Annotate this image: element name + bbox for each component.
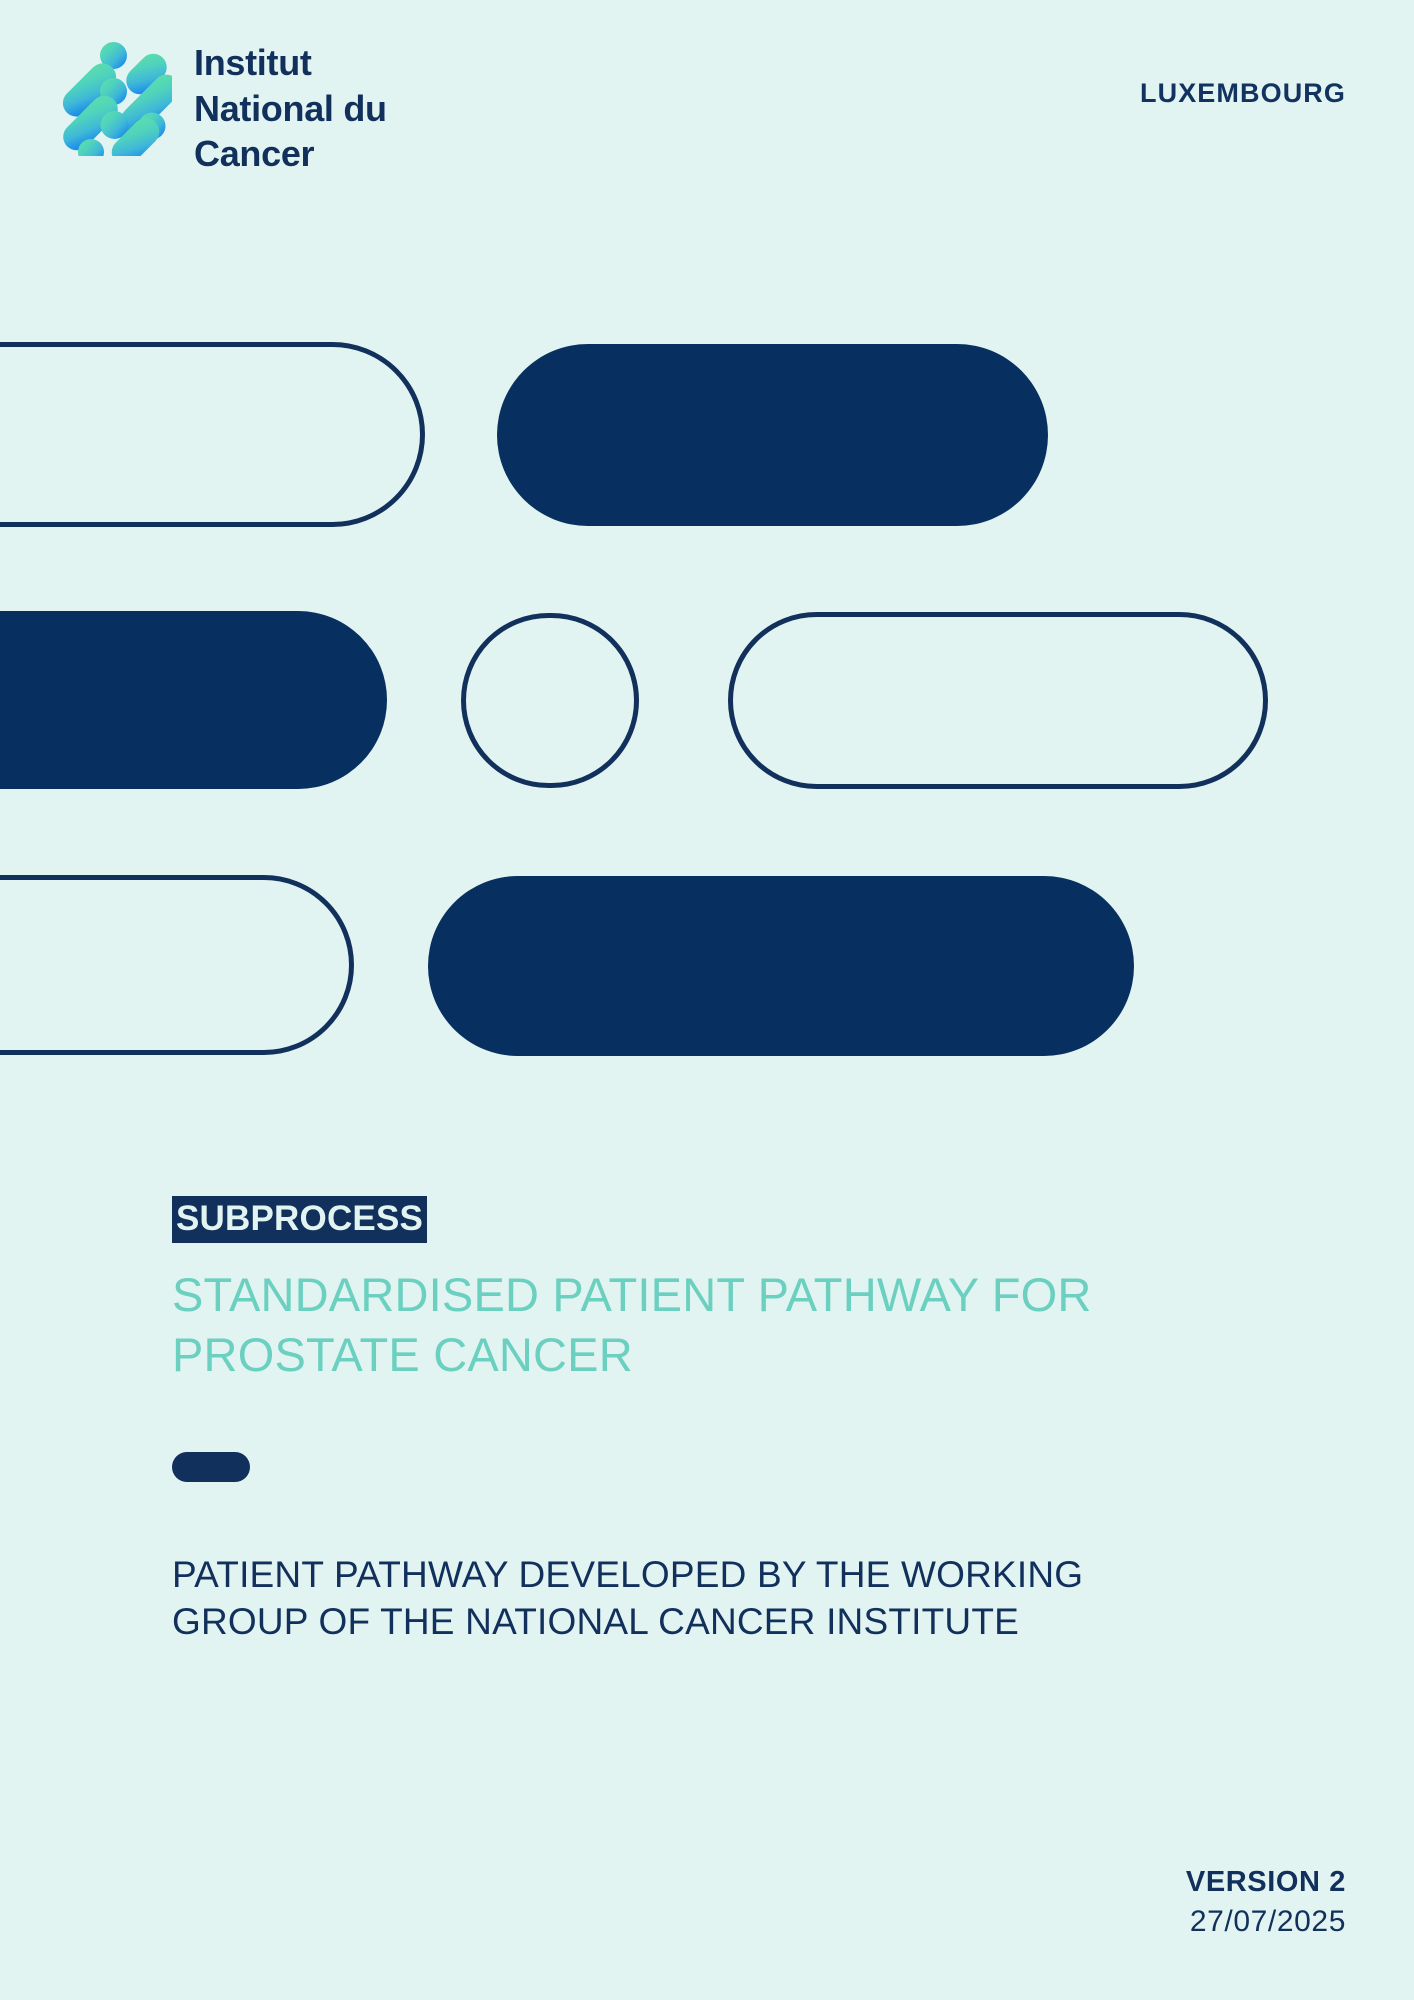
subprocess-badge: SUBPROCESS bbox=[172, 1196, 427, 1243]
decorative-shape-band bbox=[0, 330, 1414, 950]
date-label: 27/07/2025 bbox=[1186, 1902, 1346, 1943]
capsule-filled-row3-right bbox=[428, 876, 1134, 1056]
page-header: Institut National du Cancer LUXEMBOURG bbox=[0, 0, 1414, 210]
capsule-filled-row1-right bbox=[497, 344, 1048, 526]
title-block: SUBPROCESS STANDARDISED PATIENT PATHWAY … bbox=[172, 1196, 1232, 1645]
cover-page: Institut National du Cancer LUXEMBOURG S… bbox=[0, 0, 1414, 2000]
circle-outline-row2-middle bbox=[461, 613, 639, 788]
capsule-outline-row1-left bbox=[0, 342, 425, 527]
brand-wordmark: Institut National du Cancer bbox=[194, 40, 387, 177]
capsule-outline-row3-left bbox=[0, 875, 354, 1055]
pill-divider bbox=[172, 1452, 250, 1482]
version-label: VERSION 2 bbox=[1186, 1864, 1346, 1902]
capsule-filled-row2-left bbox=[0, 611, 387, 789]
page-subtitle: PATIENT PATHWAY DEVELOPED BY THE WORKING… bbox=[172, 1552, 1202, 1645]
country-label: LUXEMBOURG bbox=[1140, 78, 1346, 109]
page-footer: VERSION 2 27/07/2025 bbox=[1186, 1864, 1346, 1942]
capsule-outline-row2-right bbox=[728, 612, 1268, 789]
brand-lockup: Institut National du Cancer bbox=[60, 38, 387, 177]
eyebrow-wrapper: SUBPROCESS bbox=[172, 1196, 1232, 1243]
institut-national-du-cancer-logo-icon bbox=[60, 38, 172, 156]
page-title: STANDARDISED PATIENT PATHWAY FOR PROSTAT… bbox=[172, 1265, 1202, 1384]
